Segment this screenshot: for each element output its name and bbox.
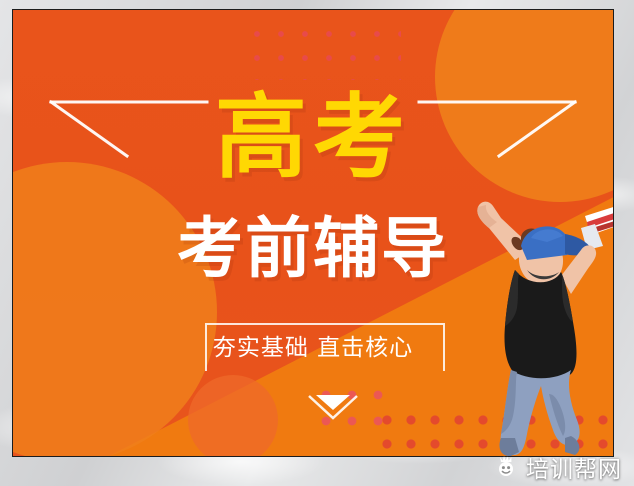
smiley-sun-icon (495, 455, 519, 479)
dot-grid-top (241, 18, 401, 80)
promo-banner: 高考 考前辅导 夯实基础 直击核心 (12, 9, 614, 457)
watermark-text: 培训帮网 (526, 450, 622, 484)
down-arrow-icon (303, 392, 363, 428)
headline-primary: 高考 (13, 92, 613, 184)
decorative-circle-mid (188, 375, 278, 457)
jumping-student-illustration (453, 198, 614, 457)
page-root: 高考 考前辅导 夯实基础 直击核心 (0, 0, 634, 486)
watermark: 培训帮网 (491, 452, 626, 482)
